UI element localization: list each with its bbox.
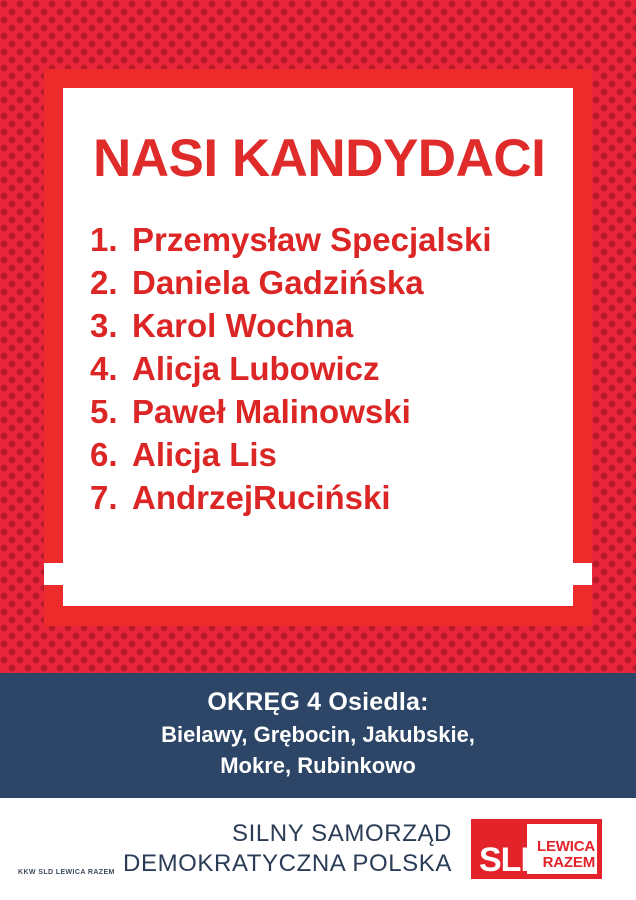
sld-logo-inset-box: LEWICA RAZEM — [527, 824, 597, 874]
district-neighbourhoods-line-2: Mokre, Rubinkowo — [0, 750, 636, 781]
sld-logo-subtitle: LEWICA RAZEM — [527, 839, 595, 871]
candidate-name: Paweł Malinowski — [132, 390, 563, 433]
sld-logo: SLD LEWICA RAZEM — [471, 819, 602, 879]
candidate-number: 3. — [90, 304, 132, 347]
sld-logo-subtitle-line-1: LEWICA — [527, 839, 595, 855]
slogan-line-1: SILNY SAMORZĄD — [0, 819, 452, 849]
slogan: SILNY SAMORZĄD DEMOKRATYCZNA POLSKA — [0, 819, 452, 879]
district-band: OKRĘG 4 Osiedla: Bielawy, Grębocin, Jaku… — [0, 673, 636, 798]
candidate-name: Karol Wochna — [132, 304, 563, 347]
list-item: 2. Daniela Gadzińska — [90, 261, 563, 304]
list-item: 6. Alicja Lis — [90, 433, 563, 476]
candidate-number: 7. — [90, 476, 132, 519]
candidates-card: NASI KANDYDACI 1. Przemysław Specjalski … — [63, 88, 573, 606]
candidate-name: Alicja Lubowicz — [132, 347, 563, 390]
list-item: 1. Przemysław Specjalski — [90, 218, 563, 261]
list-item: 5. Paweł Malinowski — [90, 390, 563, 433]
slogan-line-2: DEMOKRATYCZNA POLSKA — [0, 849, 452, 879]
district-title: OKRĘG 4 Osiedla: — [0, 686, 636, 719]
candidate-name: Alicja Lis — [132, 433, 563, 476]
page-title: NASI KANDYDACI — [93, 128, 545, 189]
candidate-name: AndrzejRuciński — [132, 476, 563, 519]
list-item: 4. Alicja Lubowicz — [90, 347, 563, 390]
candidate-number: 2. — [90, 261, 132, 304]
candidate-name: Przemysław Specjalski — [132, 218, 563, 261]
sld-logo-subtitle-line-2: RAZEM — [527, 855, 595, 871]
candidate-number: 4. — [90, 347, 132, 390]
candidate-number: 6. — [90, 433, 132, 476]
district-neighbourhoods-line-1: Bielawy, Grębocin, Jakubskie, — [0, 719, 636, 750]
candidate-list: 1. Przemysław Specjalski 2. Daniela Gadz… — [90, 218, 563, 519]
list-item: 3. Karol Wochna — [90, 304, 563, 347]
list-item: 7. AndrzejRuciński — [90, 476, 563, 519]
candidate-number: 5. — [90, 390, 132, 433]
candidate-number: 1. — [90, 218, 132, 261]
candidate-name: Daniela Gadzińska — [132, 261, 563, 304]
campaign-poster: NASI KANDYDACI 1. Przemysław Specjalski … — [0, 0, 636, 900]
